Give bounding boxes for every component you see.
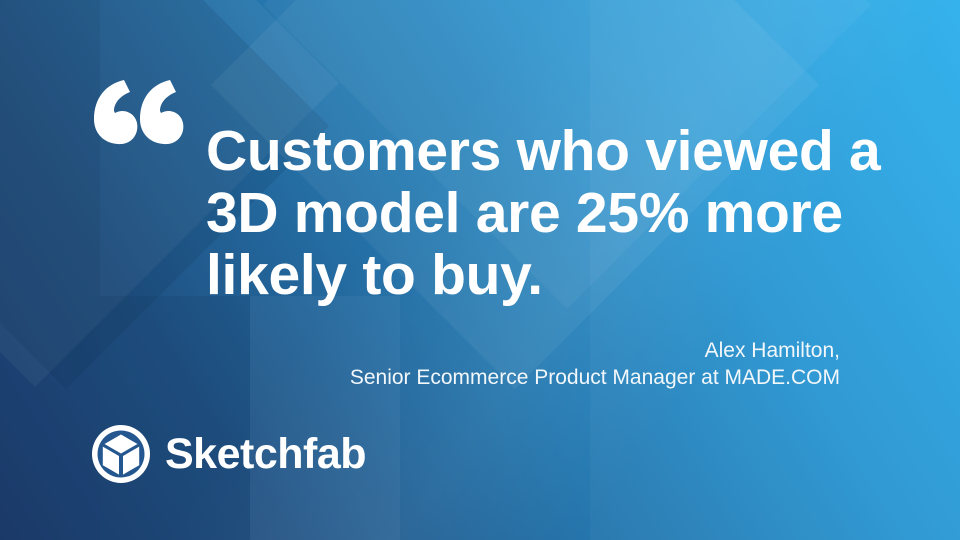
headline-line-2: 3D model are 25% more <box>206 182 906 244</box>
quote-attribution: Alex Hamilton, Senior Ecommerce Product … <box>240 337 840 391</box>
slide-content: Customers who viewed a 3D model are 25% … <box>0 0 960 540</box>
quote-open-icon <box>88 56 198 156</box>
headline-line-1: Customers who viewed a <box>206 120 906 182</box>
sketchfab-logo: Sketchfab <box>92 425 366 483</box>
attribution-name: Alex Hamilton, <box>240 337 840 364</box>
attribution-role: Senior Ecommerce Product Manager at MADE… <box>240 364 840 391</box>
sketchfab-wordmark: Sketchfab <box>165 433 366 476</box>
headline-line-3: likely to buy. <box>206 244 906 306</box>
quote-slide: Customers who viewed a 3D model are 25% … <box>0 0 960 540</box>
sketchfab-cube-icon <box>92 425 150 483</box>
page-title: Customers who viewed a 3D model are 25% … <box>206 120 906 306</box>
